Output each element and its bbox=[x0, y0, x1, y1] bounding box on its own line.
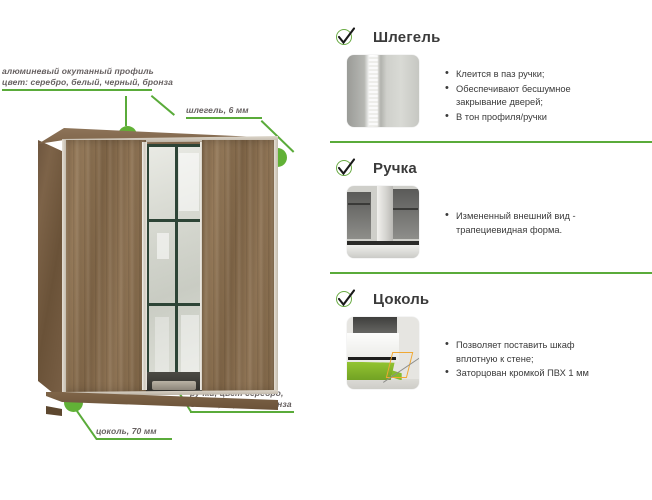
callout-schlegel: шлегель, 6 мм bbox=[186, 105, 262, 119]
list-item: Обеспечивают бесшумное закрывание дверей… bbox=[445, 83, 585, 110]
feature-handle-header: Ручка bbox=[330, 157, 652, 179]
callout-profile-line-1: алюминевый окутанный профиль bbox=[2, 66, 152, 77]
leader-line-profile bbox=[151, 95, 175, 116]
feature-plinth-header: Цоколь bbox=[330, 288, 652, 310]
check-circle-icon bbox=[335, 288, 357, 310]
mirror-sheen-4 bbox=[155, 317, 169, 373]
callout-plinth: цоколь, 70 мм bbox=[96, 426, 170, 440]
feature-handle-bullet-list: Измененный внешний вид - трапециевидная … bbox=[445, 210, 605, 238]
callout-plinth-underline bbox=[96, 438, 172, 440]
feature-schlegel-header: Шлегель bbox=[330, 26, 652, 48]
mirror-mullion-horizontal-2 bbox=[149, 303, 201, 306]
mirror-sheen-3 bbox=[181, 315, 199, 377]
mirror-mullion-horizontal-1 bbox=[149, 219, 201, 222]
mirror-sheen-1 bbox=[179, 153, 199, 211]
wardrobe-door-left bbox=[62, 140, 146, 392]
check-circle-icon bbox=[335, 26, 357, 48]
wardrobe-doors bbox=[62, 140, 278, 392]
wardrobe-graphic bbox=[38, 122, 278, 412]
plinth-base-photo bbox=[347, 317, 419, 389]
callout-plinth-line-1: цоколь, 70 мм bbox=[96, 426, 170, 437]
handle-profile-photo bbox=[347, 186, 419, 258]
feature-card-schlegel: Шлегель Клеится в паз ручки; Обеспечиваю… bbox=[330, 0, 652, 127]
check-circle-icon bbox=[335, 157, 357, 179]
product-illustration-panel: алюминевый окутанный профиль цвет: сереб… bbox=[0, 0, 330, 500]
features-panel: Шлегель Клеится в паз ручки; Обеспечиваю… bbox=[330, 0, 652, 500]
wardrobe-handle-left bbox=[142, 142, 147, 390]
callout-profile-underline bbox=[2, 89, 152, 91]
list-item: Заторцован кромкой ПВХ 1 мм bbox=[445, 367, 615, 381]
wardrobe-door-mirror bbox=[146, 144, 204, 390]
feature-handle-body: Измененный внешний вид - трапециевидная … bbox=[330, 186, 652, 258]
door-left-edge bbox=[62, 140, 66, 392]
list-item: Позволяет поставить шкаф вплотную к стен… bbox=[445, 339, 615, 366]
feature-plinth-body: Позволяет поставить шкаф вплотную к стен… bbox=[330, 317, 652, 389]
list-item: Клеится в паз ручки; bbox=[445, 68, 585, 82]
mirror-sheen-2 bbox=[157, 233, 169, 259]
wardrobe-foot bbox=[46, 406, 62, 416]
feature-schlegel-title: Шлегель bbox=[373, 29, 441, 46]
feature-plinth-bullet-list: Позволяет поставить шкаф вплотную к стен… bbox=[445, 339, 615, 382]
callout-schlegel-line-1: шлегель, 6 мм bbox=[186, 105, 262, 116]
list-item: Измененный внешний вид - трапециевидная … bbox=[445, 210, 605, 237]
feature-handle-title: Ручка bbox=[373, 160, 417, 177]
feature-schlegel-bullet-list: Клеится в паз ручки; Обеспечивают бесшум… bbox=[445, 68, 585, 125]
infographic-page: алюминевый окутанный профиль цвет: сереб… bbox=[0, 0, 652, 500]
callout-profile-line-2: цвет: серебро, белый, черный, бронза bbox=[2, 77, 152, 88]
feature-plinth-title: Цоколь bbox=[373, 291, 429, 308]
list-item: В тон профиля/ручки bbox=[445, 111, 585, 125]
door-right-edge bbox=[274, 140, 278, 392]
wardrobe-side-panel bbox=[38, 140, 64, 402]
feature-card-handle: Ручка Измененный внешний вид - трапециев… bbox=[330, 143, 652, 258]
mirror-mullion-vertical bbox=[175, 147, 178, 387]
wardrobe-door-right bbox=[202, 140, 278, 392]
feature-card-plinth: Цоколь Позволяет поставить шкаф вплотную… bbox=[330, 274, 652, 389]
schlegel-brush-seal-photo bbox=[347, 55, 419, 127]
feature-schlegel-body: Клеится в паз ручки; Обеспечивают бесшум… bbox=[330, 55, 652, 127]
mirror-reflected-rug bbox=[152, 381, 196, 390]
callout-profile: алюминевый окутанный профиль цвет: сереб… bbox=[2, 66, 152, 91]
callout-schlegel-underline bbox=[186, 117, 262, 119]
